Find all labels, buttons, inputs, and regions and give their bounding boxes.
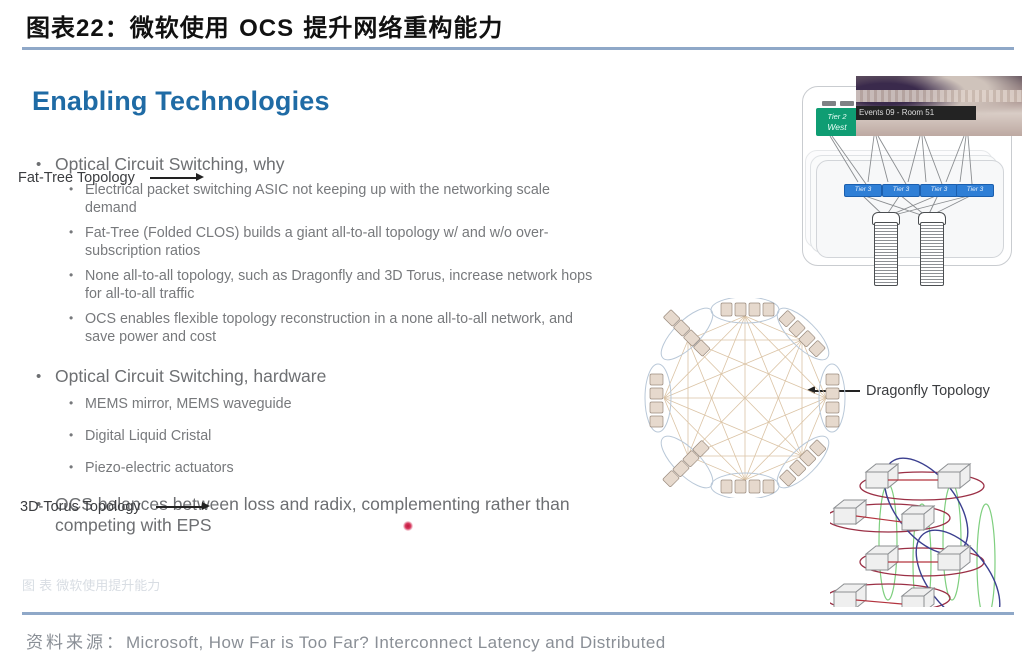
tier3-node-3: Tier 3 bbox=[920, 184, 958, 197]
bullet-l2-mems-mirror: • MEMS mirror, MEMS waveguide bbox=[69, 396, 604, 414]
title-cn-part1: 微软使用 bbox=[130, 13, 239, 42]
source-line: 资料来源：Microsoft, How Far is Too Far? Inte… bbox=[26, 628, 666, 653]
bullet-text: OCS enables flexible topology reconstruc… bbox=[85, 311, 604, 346]
bullet-l2-eps-asic: • Electrical packet switching ASIC not k… bbox=[69, 182, 604, 217]
source-divider bbox=[22, 612, 1014, 615]
bullet-text: Optical Circuit Switching, hardware bbox=[55, 366, 596, 387]
tier3-node-1: Tier 3 bbox=[844, 184, 882, 197]
bullet-dot-icon: • bbox=[69, 310, 73, 328]
torus-arrow-line bbox=[156, 506, 204, 508]
tier3-node-4: Tier 3 bbox=[956, 184, 994, 197]
bullet-dot-icon: • bbox=[69, 395, 73, 413]
bullet-text: Electrical packet switching ASIC not kee… bbox=[85, 182, 604, 217]
torus-arrow-head-icon bbox=[202, 502, 210, 510]
source-content: Microsoft, How Far is Too Far? Interconn… bbox=[126, 633, 666, 652]
video-frame-strip bbox=[856, 90, 1022, 102]
slide-heading: Enabling Technologies bbox=[32, 86, 330, 117]
video-caption-text: Events 09 - Room 51 bbox=[856, 106, 976, 120]
torus-3d-diagram bbox=[830, 446, 1022, 607]
fat-tree-arrow-line bbox=[150, 177, 198, 179]
server-rack-2 bbox=[920, 222, 944, 286]
bullet-text: MEMS mirror, MEMS waveguide bbox=[85, 396, 604, 414]
source-prefix: 资料来源： bbox=[26, 633, 126, 653]
dragonfly-topology-label: Dragonfly Topology bbox=[866, 383, 990, 399]
slide-image: Enabling Technologies • Optical Circuit … bbox=[14, 62, 1022, 607]
bullet-text: Digital Liquid Cristal bbox=[85, 428, 604, 446]
bullet-dot-icon: • bbox=[69, 427, 73, 445]
tier2-node-line2: West bbox=[816, 122, 858, 133]
title-colon: ： bbox=[105, 13, 130, 42]
bullet-dot-icon: • bbox=[69, 224, 73, 242]
slide-footnote-faint: 图 表 微软使用提升能力 bbox=[22, 575, 160, 594]
exhibit-label: 图表 bbox=[26, 13, 76, 42]
fat-tree-arrow-head-icon bbox=[196, 173, 204, 181]
torus-3d-topology-label: 3D-Torus Topology bbox=[20, 499, 141, 515]
tier2-node-cap-1 bbox=[822, 101, 836, 106]
bullet-l2-none-all-to-all: • None all-to-all topology, such as Drag… bbox=[69, 268, 604, 303]
bullet-text: Piezo-electric actuators bbox=[85, 460, 604, 478]
dragonfly-diagram bbox=[630, 298, 860, 498]
tier2-node-line1: Tier 2 bbox=[827, 112, 846, 121]
bullet-l1-optical-circuit-switching-hardware: • Optical Circuit Switching, hardware bbox=[36, 366, 596, 387]
bullet-l2-piezo-electric-actuators: • Piezo-electric actuators bbox=[69, 460, 604, 478]
bullet-text: Fat-Tree (Folded CLOS) builds a giant al… bbox=[85, 225, 604, 260]
bullet-l2-fat-tree-clos: • Fat-Tree (Folded CLOS) builds a giant … bbox=[69, 225, 604, 260]
bullet-text: None all-to-all topology, such as Dragon… bbox=[85, 268, 604, 303]
title-cn-part2: 提升网络重构能力 bbox=[294, 13, 503, 42]
video-overlay: Events 09 - Room 51 bbox=[856, 76, 1022, 136]
tier3-node-2: Tier 3 bbox=[882, 184, 920, 197]
page-title: 图表22：微软使用 OCS 提升网络重构能力 bbox=[26, 8, 503, 43]
tier2-node-cap-2 bbox=[840, 101, 854, 106]
bullet-l2-digital-liquid-cristal: • Digital Liquid Cristal bbox=[69, 428, 604, 446]
bullet-text: Optical Circuit Switching, why bbox=[55, 154, 596, 175]
bullet-dot-icon: • bbox=[36, 366, 41, 387]
bullet-dot-icon: • bbox=[69, 459, 73, 477]
tier2-node-west-1: Tier 2 West bbox=[816, 108, 858, 136]
header-divider bbox=[22, 47, 1014, 50]
exhibit-number: 22 bbox=[76, 15, 105, 42]
dragonfly-svg bbox=[630, 298, 860, 498]
fat-tree-diagram: Tier 2 West Tier 2 East Tier 2 West Tier… bbox=[796, 76, 1022, 268]
bullet-dot-icon: • bbox=[69, 267, 73, 285]
title-en-part: OCS bbox=[239, 15, 294, 42]
server-rack-1 bbox=[874, 222, 898, 286]
fat-tree-topology-label: Fat-Tree Topology bbox=[18, 170, 135, 186]
bullet-l2-ocs-flexible-topology: • OCS enables flexible topology reconstr… bbox=[69, 311, 604, 346]
laser-pointer-dot bbox=[403, 521, 413, 531]
report-header: 图表22：微软使用 OCS 提升网络重构能力 bbox=[0, 0, 1036, 56]
torus-3d-svg bbox=[830, 446, 1022, 607]
